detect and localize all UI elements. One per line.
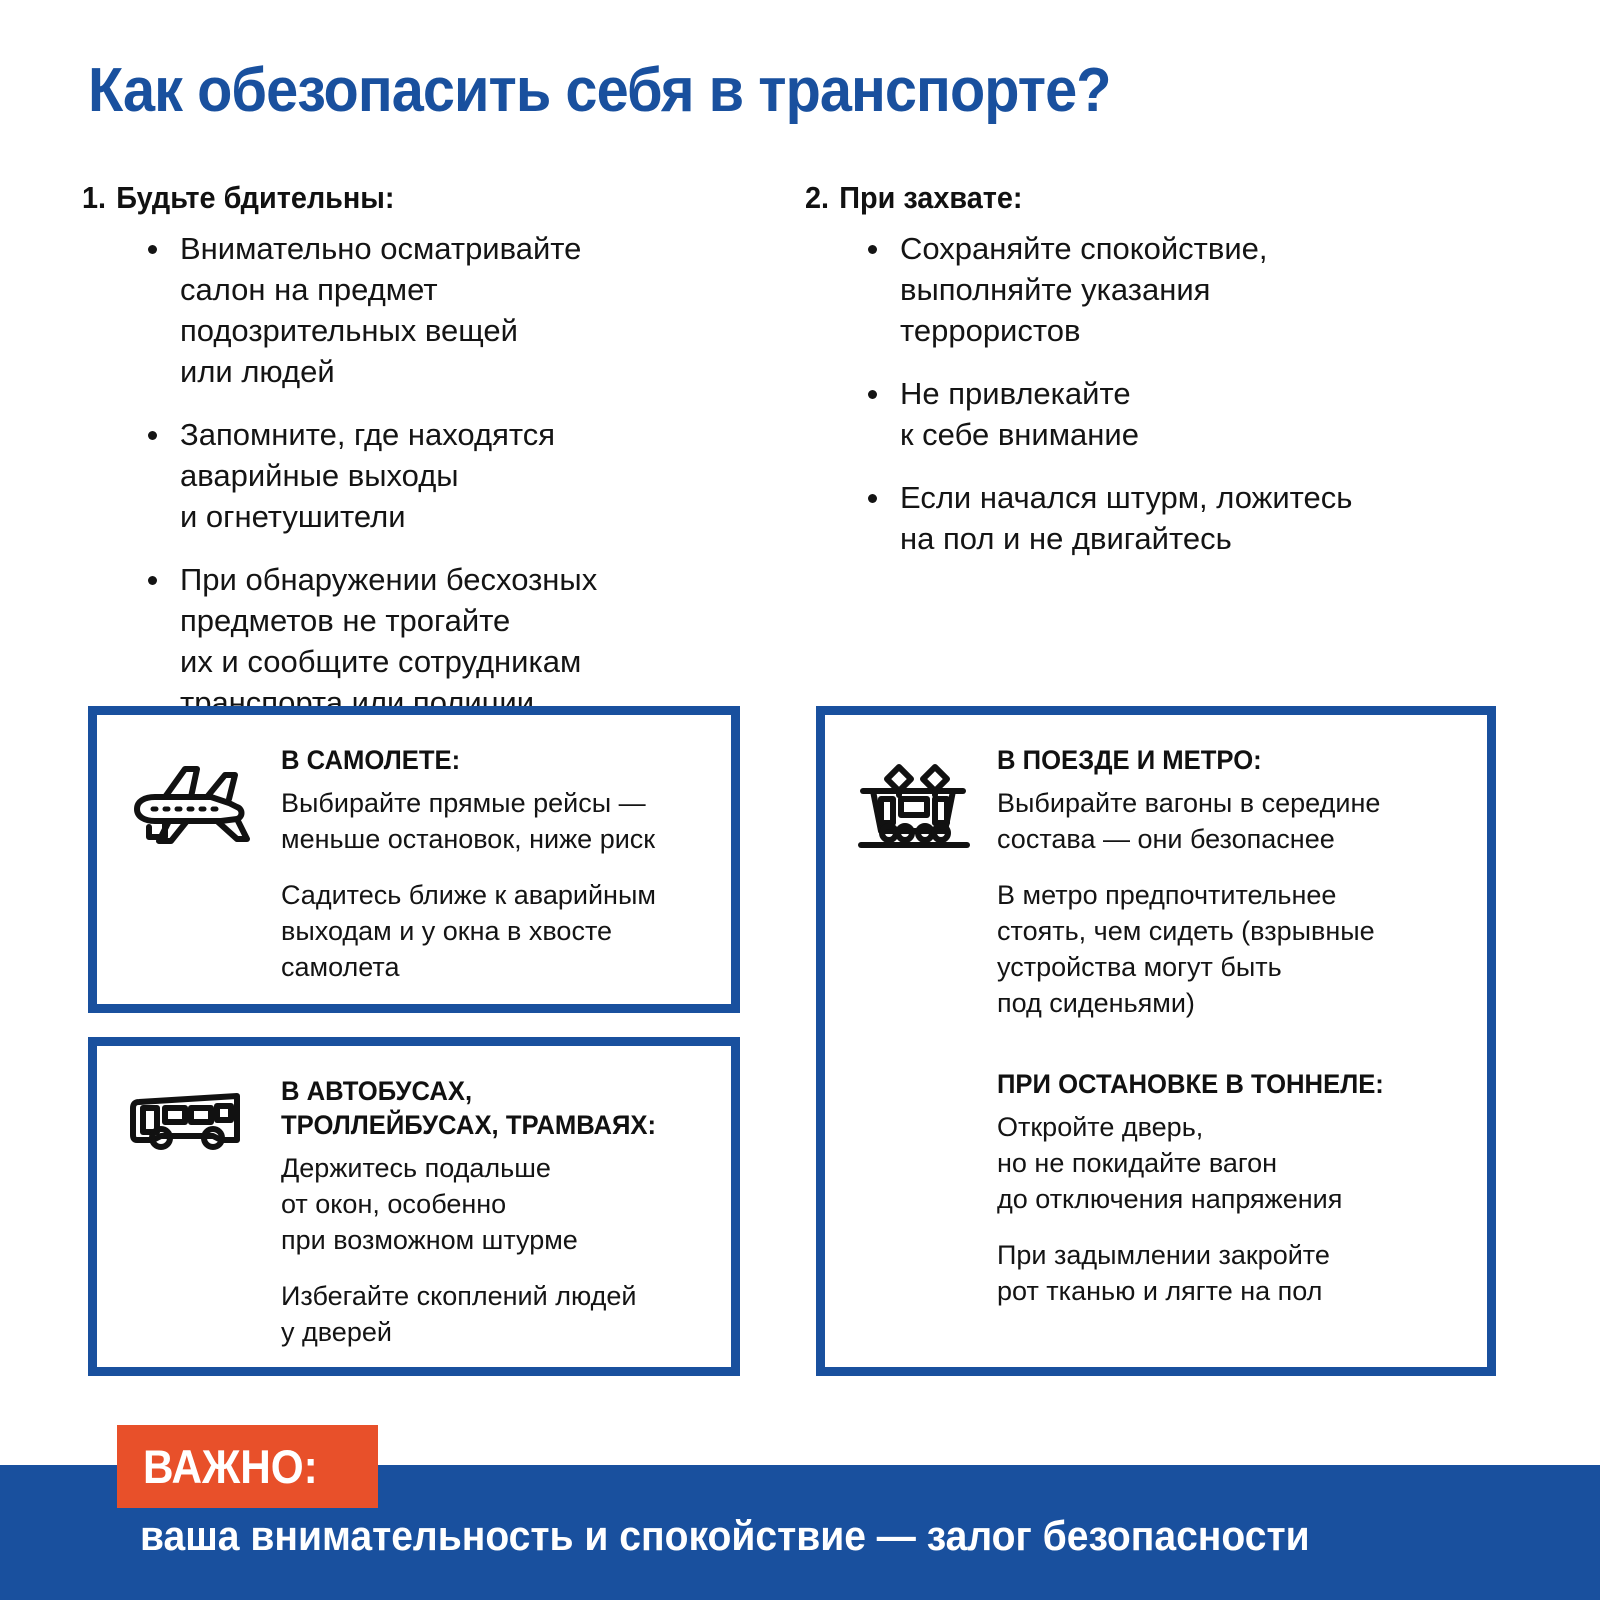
footer-message: ваша внимательность и спокойствие — зало…	[140, 1512, 1310, 1560]
list-item: При обнаружении бесхозных предметов не т…	[140, 559, 740, 723]
card-title: В САМОЛЕТЕ:	[281, 743, 690, 777]
card-paragraph: При задымлении закройте рот тканью и ляг…	[997, 1237, 1457, 1309]
card-paragraph: Откройте дверь, но не покидайте вагон до…	[997, 1109, 1457, 1217]
bus-icon	[125, 1078, 253, 1163]
section-label-1: Будьте бдительны:	[116, 180, 394, 215]
list-item: Внимательно осматривайте салон на предме…	[140, 228, 740, 392]
page-title: Как обезопасить себя в транспорте?	[88, 55, 1111, 126]
card-airplane: В САМОЛЕТЕ: Выбирайте прямые рейсы — мен…	[88, 706, 740, 1013]
section-number-1: 1.	[82, 180, 106, 215]
card-bus: В АВТОБУСАХ, ТРОЛЛЕЙБУСАХ, ТРАМВАЯХ: Дер…	[88, 1037, 740, 1376]
card-paragraph: Выбирайте прямые рейсы — меньше останово…	[281, 785, 711, 857]
list-item: Сохраняйте спокойствие, выполняйте указа…	[860, 228, 1460, 351]
airplane-icon	[125, 757, 253, 858]
list-item: Если начался штурм, ложитесь на пол и не…	[860, 477, 1460, 559]
card-airplane-text: В САМОЛЕТЕ: Выбирайте прямые рейсы — мен…	[281, 743, 711, 985]
tram-icon	[847, 749, 979, 858]
important-badge-label: ВАЖНО:	[143, 1439, 318, 1494]
important-badge: ВАЖНО:	[117, 1425, 378, 1508]
section-label-2: При захвате:	[839, 180, 1022, 215]
bullet-list-1: Внимательно осматривайте салон на предме…	[140, 228, 740, 745]
card-paragraph: Держитесь подальше от окон, особенно при…	[281, 1150, 721, 1258]
card-title: В ПОЕЗДЕ И МЕТРО:	[997, 743, 1434, 777]
card-paragraph: Избегайте скоплений людей у дверей	[281, 1278, 721, 1350]
list-item: Не привлекайте к себе внимание	[860, 373, 1460, 455]
infographic-page: Как обезопасить себя в транспорте? 1.Буд…	[0, 0, 1600, 1600]
card-paragraph: В метро предпочтительнее стоять, чем сид…	[997, 877, 1457, 1021]
card-bus-text: В АВТОБУСАХ, ТРОЛЛЕЙБУСАХ, ТРАМВАЯХ: Дер…	[281, 1074, 721, 1350]
list-item: Запомните, где находятся аварийные выход…	[140, 414, 740, 537]
bullet-list-2: Сохраняйте спокойствие, выполняйте указа…	[860, 228, 1460, 581]
section-heading-1: 1.Будьте бдительны:	[82, 180, 395, 216]
section-heading-2: 2.При захвате:	[805, 180, 1023, 216]
card-title-tunnel: ПРИ ОСТАНОВКЕ В ТОННЕЛЕ:	[997, 1067, 1434, 1101]
section-number-2: 2.	[805, 180, 829, 215]
card-paragraph: Садитесь ближе к аварийным выходам и у о…	[281, 877, 711, 985]
card-train-metro: В ПОЕЗДЕ И МЕТРО: Выбирайте вагоны в сер…	[816, 706, 1496, 1376]
card-paragraph: Выбирайте вагоны в середине состава — он…	[997, 785, 1457, 857]
card-title: В АВТОБУСАХ, ТРОЛЛЕЙБУСАХ, ТРАМВАЯХ:	[281, 1074, 699, 1142]
card-train-text: В ПОЕЗДЕ И МЕТРО: Выбирайте вагоны в сер…	[997, 743, 1457, 1309]
